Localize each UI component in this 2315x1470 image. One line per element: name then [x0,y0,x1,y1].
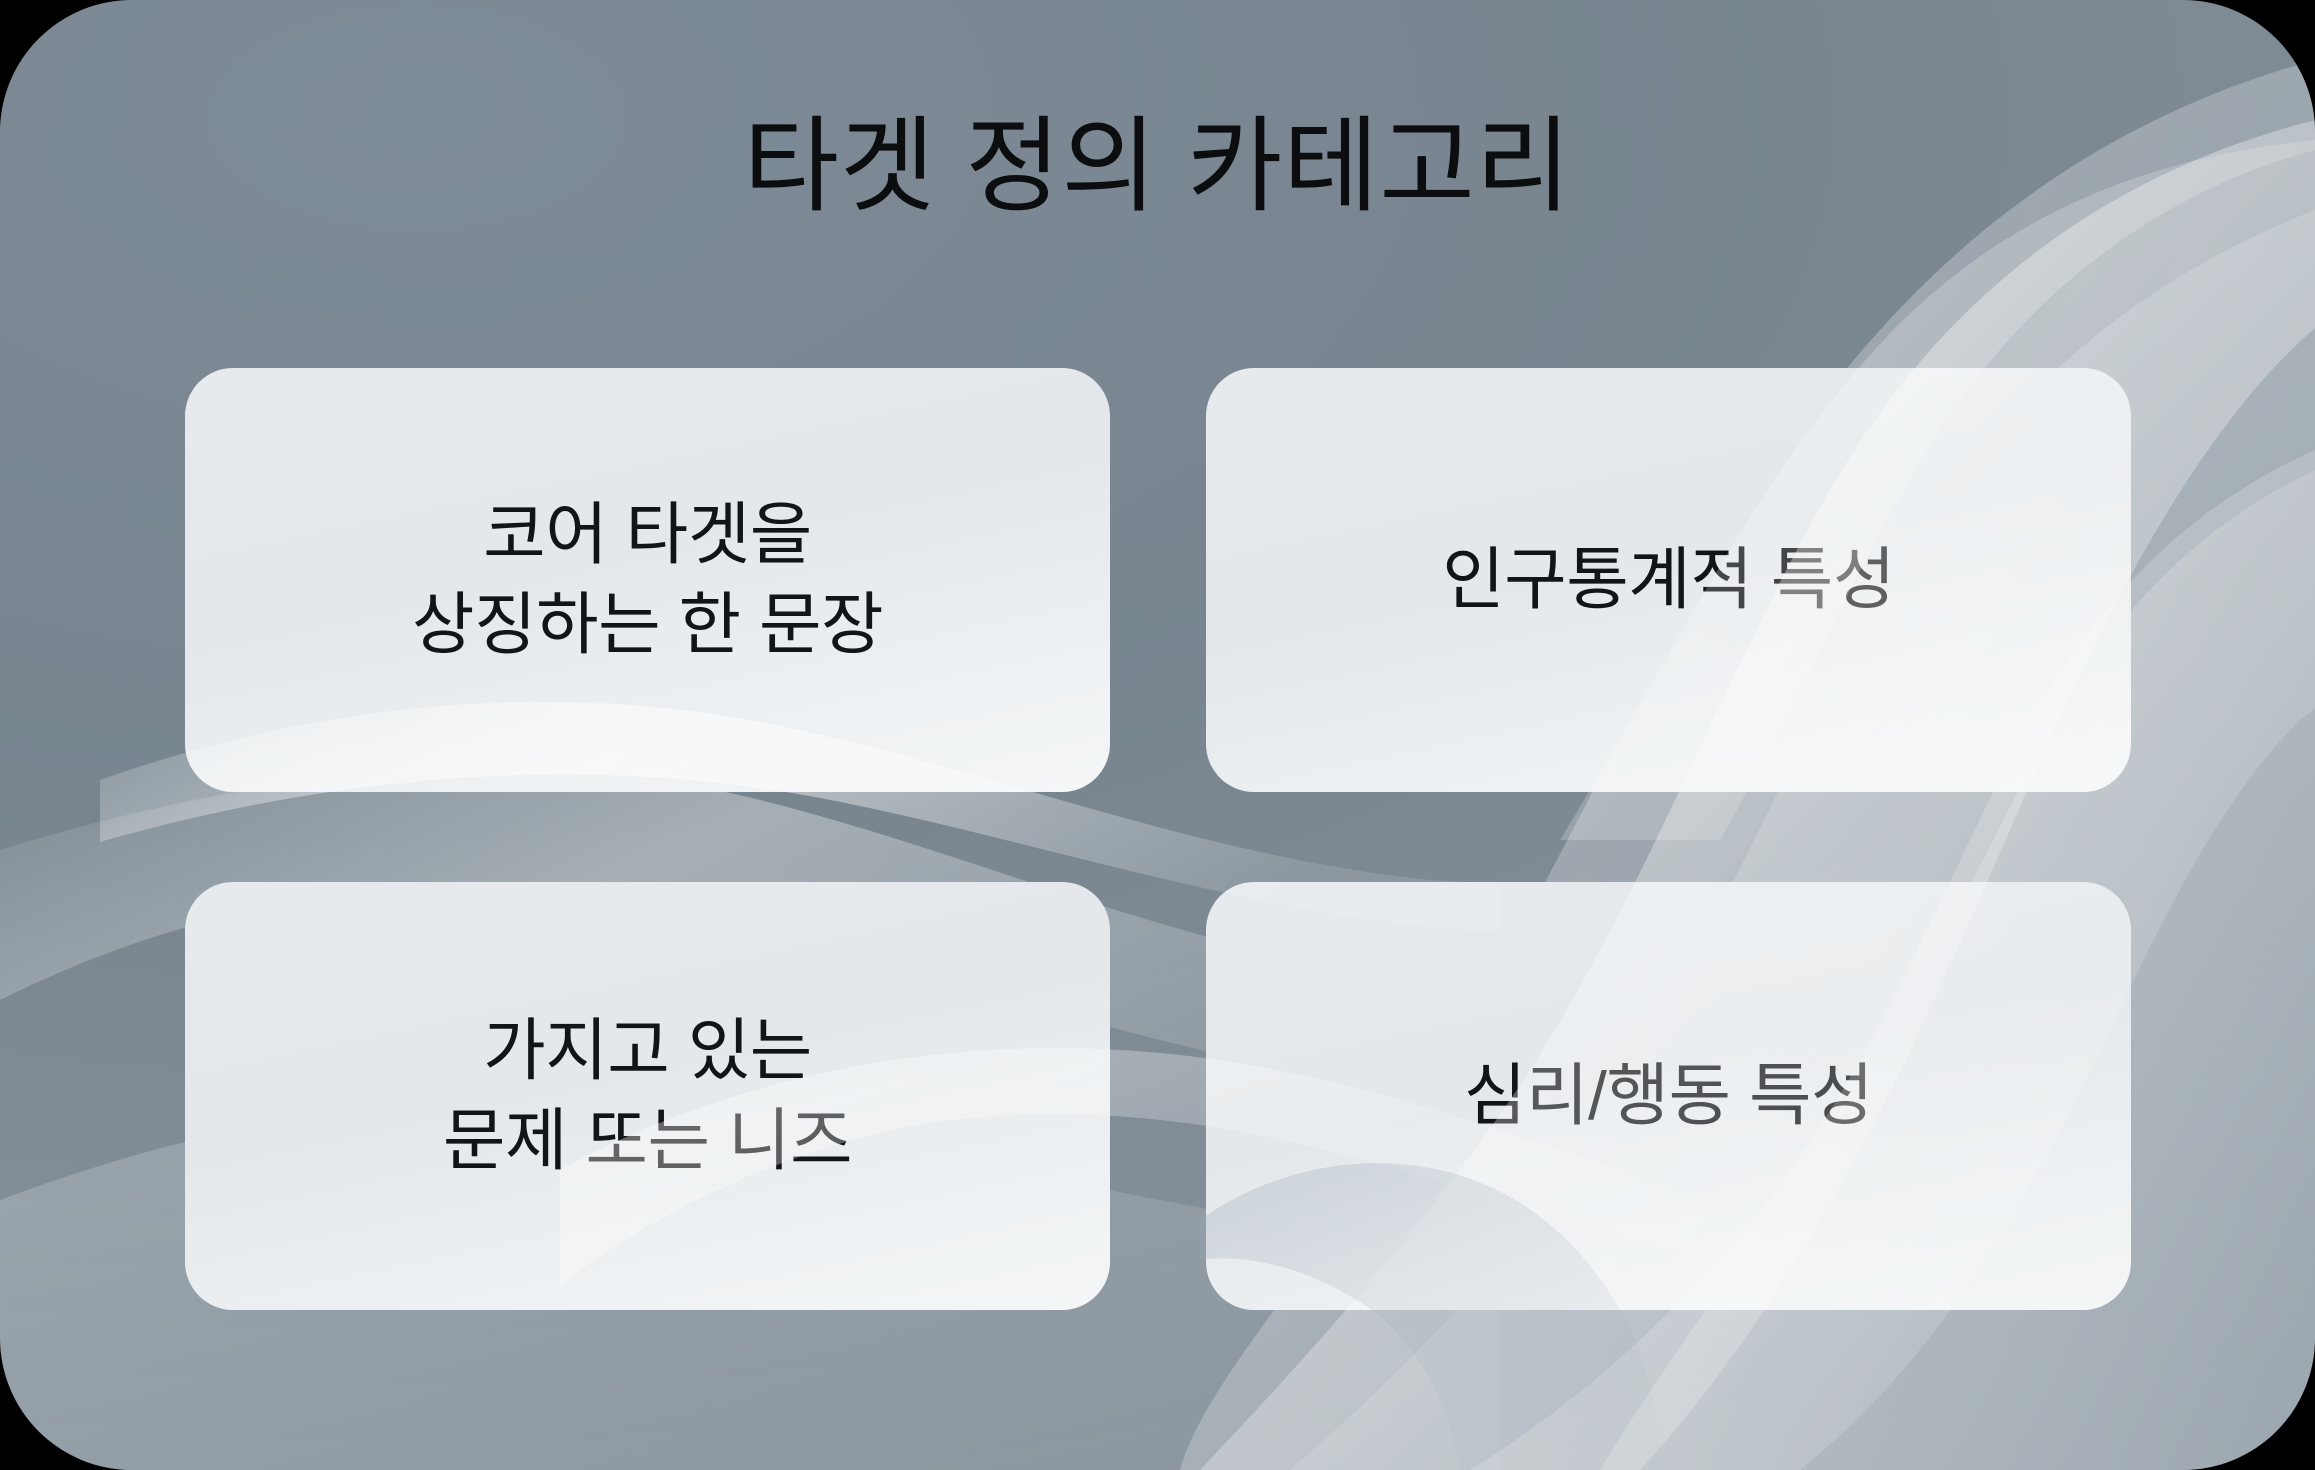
page-title: 타겟 정의 카테고리 [0,108,2315,228]
slide-canvas: 타겟 정의 카테고리 코어 타겟을 상징하는 한 문장 인구통계적 특성 가지고… [0,0,2315,1470]
category-card-grid: 코어 타겟을 상징하는 한 문장 인구통계적 특성 가지고 있는 문제 또는 니… [185,368,2131,1310]
card-label: 코어 타겟을 상징하는 한 문장 [412,490,883,671]
card-label: 심리/행동 특성 [1464,1051,1873,1141]
card-demographic-traits[interactable]: 인구통계적 특성 [1206,368,2131,792]
card-problems-or-needs[interactable]: 가지고 있는 문제 또는 니즈 [185,882,1110,1310]
card-core-target-sentence[interactable]: 코어 타겟을 상징하는 한 문장 [185,368,1110,792]
card-label: 인구통계적 특성 [1442,535,1895,625]
card-psychographic-traits[interactable]: 심리/행동 특성 [1206,882,2131,1310]
card-label: 가지고 있는 문제 또는 니즈 [443,1006,852,1187]
